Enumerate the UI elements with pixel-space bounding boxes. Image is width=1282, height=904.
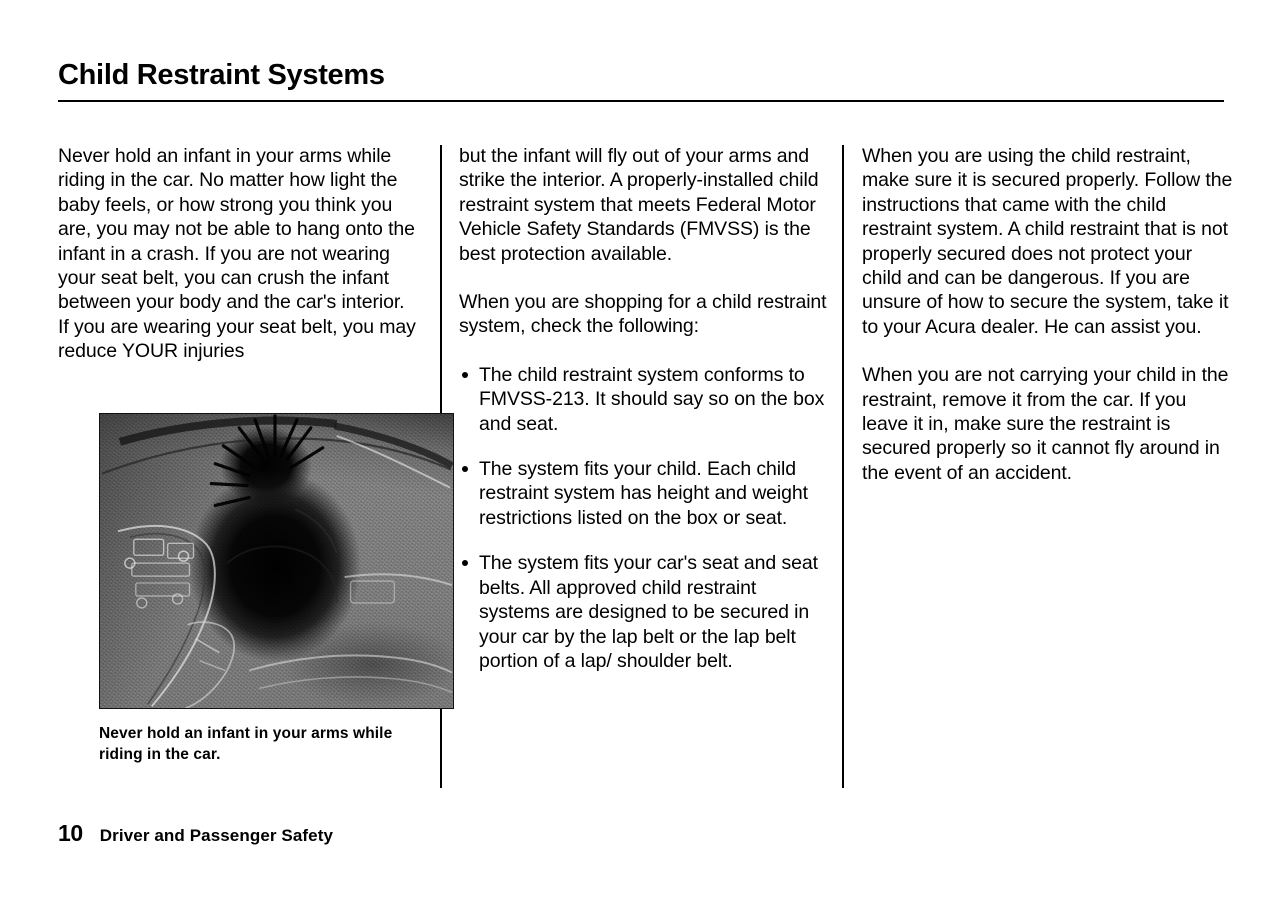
paragraph: Never hold an infant in your arms while … xyxy=(58,144,416,364)
checklist: The child restraint system conforms to F… xyxy=(459,363,831,673)
footer-section-title: Driver and Passenger Safety xyxy=(100,826,333,846)
list-item-text: The system fits your child. Each child r… xyxy=(479,458,808,529)
text-column-1: Never hold an infant in your arms while … xyxy=(58,144,416,364)
bullet-dot-icon xyxy=(462,560,468,566)
column-divider-rule-2 xyxy=(842,145,844,788)
paragraph: When you are shopping for a child restra… xyxy=(459,290,831,339)
text-column-2: but the infant will fly out of your arms… xyxy=(459,144,831,673)
title-divider-rule xyxy=(58,100,1224,102)
list-item: The system fits your car's seat and seat… xyxy=(459,551,831,673)
page-footer: 10 Driver and Passenger Safety xyxy=(58,820,333,847)
car-interior-linework xyxy=(100,414,453,708)
bullet-dot-icon xyxy=(462,466,468,472)
list-item-text: The system fits your car's seat and seat… xyxy=(479,552,818,672)
paragraph: When you are using the child restraint, … xyxy=(862,144,1234,339)
figure-caption: Never hold an infant in your arms while … xyxy=(99,723,429,765)
text-column-3: When you are using the child restraint, … xyxy=(862,144,1234,485)
list-item: The system fits your child. Each child r… xyxy=(459,457,831,530)
figure-photograph xyxy=(99,413,454,709)
list-item-text: The child restraint system conforms to F… xyxy=(479,364,824,435)
paragraph: but the infant will fly out of your arms… xyxy=(459,144,831,266)
list-item: The child restraint system conforms to F… xyxy=(459,363,831,436)
paragraph: When you are not carrying your child in … xyxy=(862,363,1234,485)
bullet-dot-icon xyxy=(462,372,468,378)
footer-page-number: 10 xyxy=(58,820,83,847)
page-title: Child Restraint Systems xyxy=(58,58,385,92)
figure-infant-in-arms: Never hold an infant in your arms while … xyxy=(99,413,454,765)
